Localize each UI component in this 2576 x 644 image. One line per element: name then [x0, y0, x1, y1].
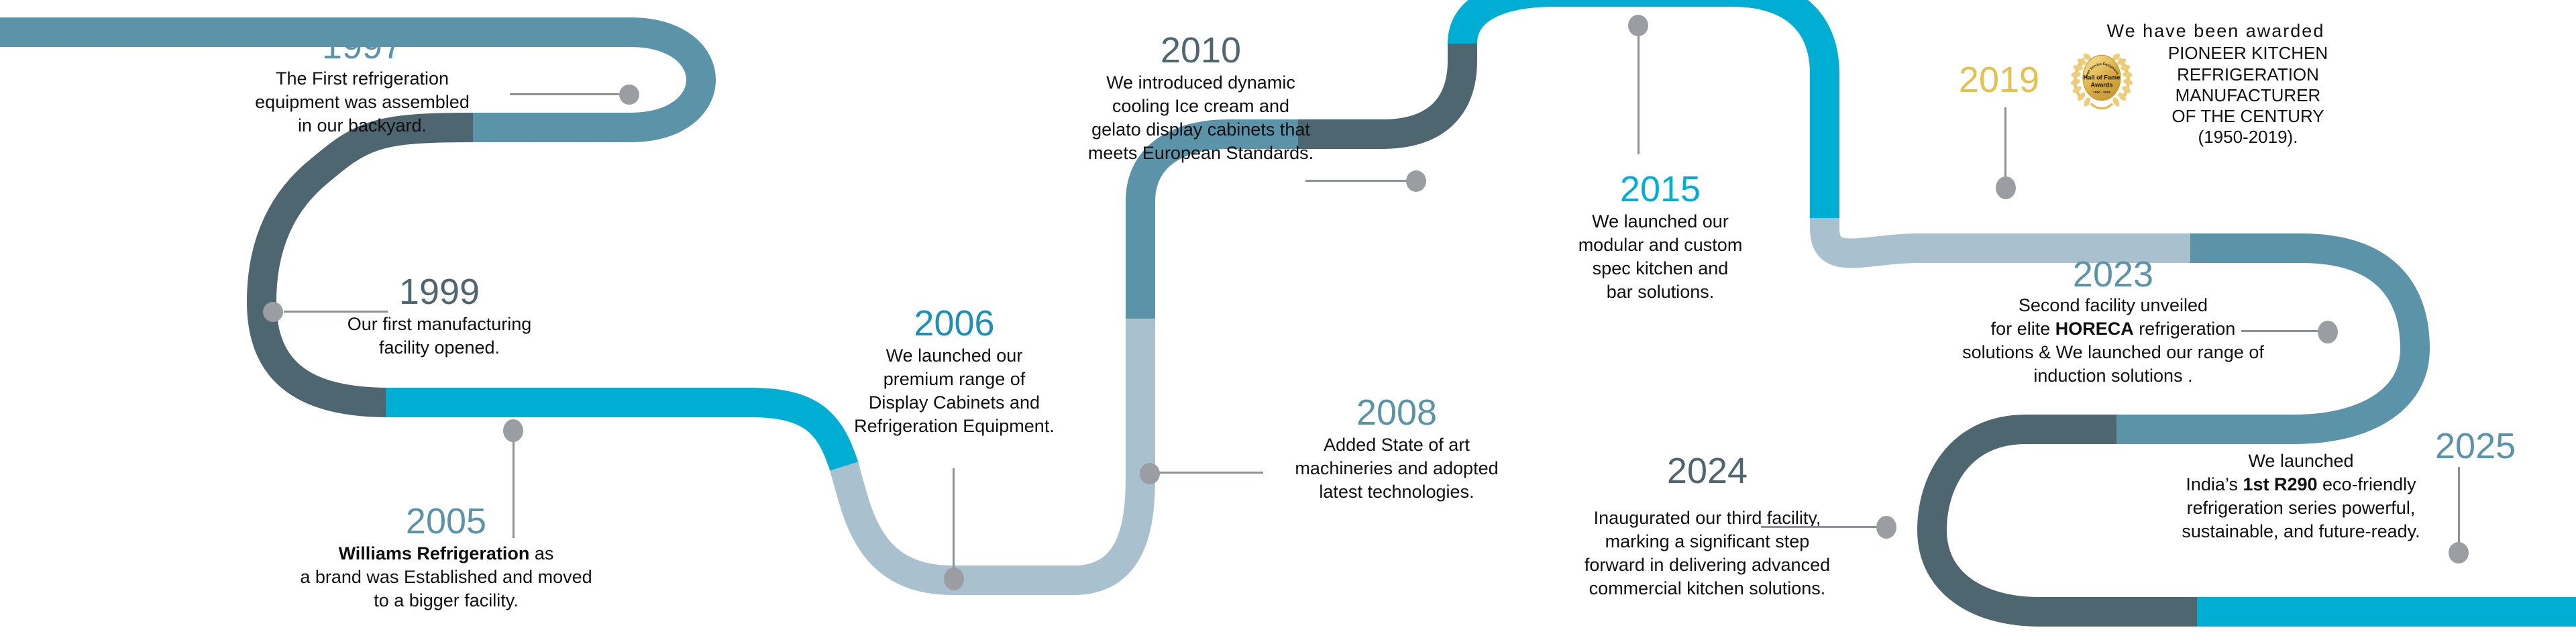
connector-line-2015 — [1638, 27, 1640, 154]
milestone-2008-year: 2008 — [1256, 394, 1538, 431]
milestone-2006-description: We launched our premium range of Display… — [795, 344, 1114, 438]
connector-dot-1997[interactable] — [619, 85, 639, 105]
milestone-1997-year: 1997 — [221, 28, 503, 64]
desc-line: premium range of — [795, 368, 1114, 391]
desc-line: induction solutions . — [1905, 364, 2321, 388]
desc-bold: 1st R290 — [2243, 474, 2317, 494]
milestone-2025[interactable]: We launched India’s 1st R290 eco-friendl… — [2167, 449, 2435, 543]
milestone-2024-year: 2024 — [1529, 453, 1885, 489]
award-line: MANUFACTURER — [2141, 85, 2355, 106]
connector-line-2025 — [2458, 467, 2460, 547]
desc-line: The First refrigeration — [221, 67, 503, 91]
desc-line: facility opened. — [312, 336, 567, 360]
milestone-2023-description: Second facility unveiled for elite HOREC… — [1905, 294, 2321, 388]
desc-line: gelato display cabinets that — [1040, 118, 1362, 142]
desc-line: modular and custom — [1526, 233, 1794, 257]
ribbon-segment-6 — [386, 402, 845, 470]
award-heading: We have been awarded — [2076, 20, 2355, 42]
ribbon-segment-2 — [631, 32, 701, 127]
award-line: OF THE CENTURY — [2141, 106, 2355, 127]
timeline-infographic: 1997 The First refrigeration equipment w… — [0, 0, 2576, 644]
desc-line: Our first manufacturing — [312, 313, 567, 336]
milestone-2025-year-wrap[interactable]: 2025 — [2435, 428, 2549, 464]
desc-line: to a bigger facility. — [252, 589, 641, 612]
desc-line: commercial kitchen solutions. — [1529, 577, 1885, 600]
milestone-1997[interactable]: 1997 The First refrigeration equipment w… — [221, 28, 503, 138]
desc-bold: HORECA — [2055, 319, 2134, 339]
connector-dot-2023[interactable] — [2318, 321, 2338, 343]
desc-line: Added State of art — [1256, 433, 1538, 457]
desc-line: marking a significant step — [1529, 530, 1885, 553]
milestone-1999-year: 1999 — [312, 274, 567, 310]
badge-svg: Food Service Equipment, India Hall of Fa… — [2070, 46, 2134, 115]
milestone-2010-year: 2010 — [1040, 32, 1362, 68]
desc-line: in our backyard. — [221, 114, 503, 138]
connector-dot-2006[interactable] — [944, 568, 964, 590]
milestone-1997-description: The First refrigeration equipment was as… — [221, 67, 503, 138]
desc-line: solutions & We launched our range of — [1905, 341, 2321, 364]
connector-line-2023 — [2241, 330, 2322, 332]
milestone-2005-year: 2005 — [252, 503, 641, 539]
desc-line: Second facility unveiled — [1905, 294, 2321, 317]
connector-dot-2010[interactable] — [1406, 170, 1426, 192]
milestone-2005[interactable]: 2005 Williams Refrigeration as a brand w… — [252, 503, 641, 612]
desc-line: machineries and adopted — [1256, 457, 1538, 480]
desc-line: bar solutions. — [1526, 280, 1794, 304]
ribbon-segment-13 — [1932, 429, 2200, 612]
desc-line: forward in delivering advanced — [1529, 553, 1885, 577]
desc-line: refrigeration series powerful, — [2167, 496, 2435, 520]
milestone-2008-description: Added State of art machineries and adopt… — [1256, 433, 1538, 504]
award-block-2019: Food Service Equipment, India Hall of Fa… — [2070, 20, 2351, 148]
desc-line: spec kitchen and — [1526, 257, 1794, 280]
milestone-2025-year: 2025 — [2435, 428, 2549, 464]
milestone-2008[interactable]: 2008 Added State of art machineries and … — [1256, 394, 1538, 504]
milestone-1999[interactable]: 1999 Our first manufacturing facility op… — [312, 274, 567, 360]
desc-line: equipment was assembled — [221, 91, 503, 114]
desc-line: for elite HORECA refrigeration — [1905, 317, 2321, 341]
milestone-2023[interactable]: 2023 Second facility unveiled for elite … — [1905, 256, 2321, 388]
milestone-2015[interactable]: 2015 We launched our modular and custom … — [1526, 171, 1794, 304]
hall-of-fame-badge-icon: Food Service Equipment, India Hall of Fa… — [2070, 46, 2134, 115]
desc-line: Refrigeration Equipment. — [795, 415, 1114, 438]
desc-bold: Williams Refrigeration — [339, 543, 530, 563]
desc-line: We launched our — [795, 344, 1114, 368]
badge-line1: Hall of Fame — [2084, 74, 2121, 80]
connector-line-1997 — [510, 93, 621, 95]
connector-line-2008 — [1158, 472, 1263, 474]
connector-line-2005 — [513, 437, 515, 538]
milestone-2010-description: We introduced dynamic cooling Ice cream … — [1040, 71, 1362, 165]
milestone-1999-description: Our first manufacturing facility opened. — [312, 313, 567, 360]
milestone-2006-year: 2006 — [795, 305, 1114, 341]
desc-line: We launched our — [1526, 210, 1794, 233]
connector-dot-2019[interactable] — [1996, 176, 2016, 199]
desc-line: sustainable, and future-ready. — [2167, 520, 2435, 543]
award-body: PIONEER KITCHEN REFRIGERATION MANUFACTUR… — [2141, 43, 2355, 148]
desc-line: a brand was Established and moved — [252, 566, 641, 589]
milestone-2010[interactable]: 2010 We introduced dynamic cooling Ice c… — [1040, 32, 1362, 165]
connector-line-2006 — [953, 468, 955, 574]
connector-dot-2025[interactable] — [2449, 542, 2469, 563]
award-line: REFRIGERATION — [2141, 64, 2355, 85]
award-line: (1950-2019). — [2141, 127, 2355, 148]
desc-line: meets European Standards. — [1040, 142, 1362, 165]
desc-line: We launched — [2167, 449, 2435, 473]
milestone-2005-description: Williams Refrigeration as a brand was Es… — [252, 542, 641, 612]
milestone-2019-year: 2019 — [1945, 62, 2053, 98]
connector-line-2019 — [2004, 107, 2006, 181]
badge-years: 1950 - 2019 — [2093, 91, 2110, 95]
desc-line: Williams Refrigeration as — [252, 542, 641, 566]
desc-line: We introduced dynamic — [1040, 71, 1362, 95]
connector-dot-1999[interactable] — [263, 302, 283, 322]
desc-line: latest technologies. — [1256, 480, 1538, 504]
award-line: PIONEER KITCHEN — [2141, 43, 2355, 64]
connector-line-2024 — [1761, 526, 1880, 528]
milestone-2019-year-wrap[interactable]: 2019 — [1945, 62, 2053, 98]
connector-dot-2008[interactable] — [1140, 463, 1160, 484]
milestone-2006[interactable]: 2006 We launched our premium range of Di… — [795, 305, 1114, 438]
badge-line2: Awards — [2090, 82, 2112, 89]
connector-dot-2024[interactable] — [1876, 516, 1896, 539]
milestone-2025-description: We launched India’s 1st R290 eco-friendl… — [2167, 449, 2435, 543]
connector-dot-2015[interactable] — [1628, 15, 1648, 36]
desc-line: Display Cabinets and — [795, 391, 1114, 415]
milestone-2023-year: 2023 — [1905, 256, 2321, 292]
milestone-2015-description: We launched our modular and custom spec … — [1526, 210, 1794, 304]
connector-line-2010 — [1305, 180, 1409, 182]
connector-dot-2005[interactable] — [503, 419, 523, 442]
connector-line-1999 — [284, 311, 388, 313]
milestone-2015-year: 2015 — [1526, 171, 1794, 207]
milestone-2024-description: Inaugurated our third facility, marking … — [1529, 506, 1885, 600]
award-copy: We have been awarded PIONEER KITCHEN REF… — [2141, 20, 2355, 148]
desc-line: cooling Ice cream and — [1040, 95, 1362, 118]
ribbon-segment-11 — [1825, 218, 2194, 254]
desc-line: India’s 1st R290 eco-friendly — [2167, 473, 2435, 496]
